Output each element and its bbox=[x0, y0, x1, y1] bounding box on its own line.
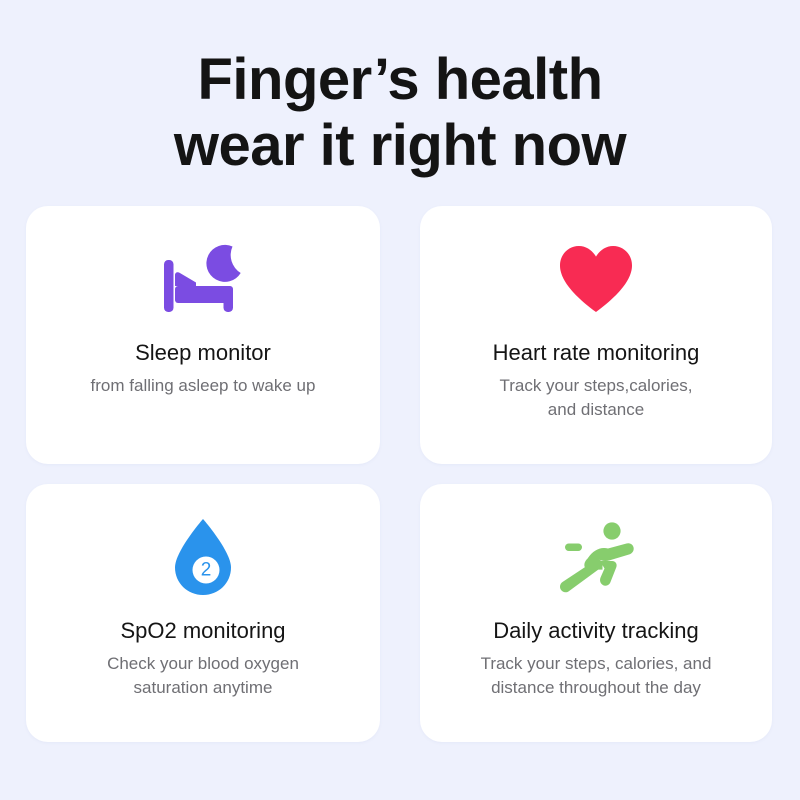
page-title: Finger’s health wear it right now bbox=[0, 0, 800, 179]
feature-card-title: Heart rate monitoring bbox=[493, 338, 700, 368]
heart-icon bbox=[558, 234, 634, 326]
spo2-badge-value: 2 bbox=[201, 560, 212, 581]
feature-card-heart-rate[interactable]: Heart rate monitoring Track your steps,c… bbox=[420, 206, 772, 464]
promo-page: Finger’s health wear it right now Sle bbox=[0, 0, 800, 800]
feature-card-grid: Sleep monitor from falling asleep to wak… bbox=[0, 179, 800, 742]
feature-card-subtitle: Check your blood oxygen saturation anyti… bbox=[107, 652, 299, 700]
water-drop-o2-icon: 2 bbox=[169, 512, 237, 604]
feature-card-subtitle: from falling asleep to wake up bbox=[91, 374, 316, 398]
feature-card-spo2[interactable]: 2 SpO2 monitoring Check your blood oxyge… bbox=[26, 484, 380, 742]
feature-card-title: SpO2 monitoring bbox=[120, 616, 285, 646]
feature-card-subtitle: Track your steps, calories, and distance… bbox=[481, 652, 712, 700]
feature-card-sleep-monitor[interactable]: Sleep monitor from falling asleep to wak… bbox=[26, 206, 380, 464]
feature-card-daily-activity[interactable]: Daily activity tracking Track your steps… bbox=[420, 484, 772, 742]
feature-card-subtitle: Track your steps,calories, and distance bbox=[499, 374, 692, 422]
feature-card-title: Daily activity tracking bbox=[493, 616, 698, 646]
feature-card-title: Sleep monitor bbox=[135, 338, 271, 368]
bed-moon-icon bbox=[160, 234, 246, 326]
running-person-icon bbox=[555, 512, 637, 604]
